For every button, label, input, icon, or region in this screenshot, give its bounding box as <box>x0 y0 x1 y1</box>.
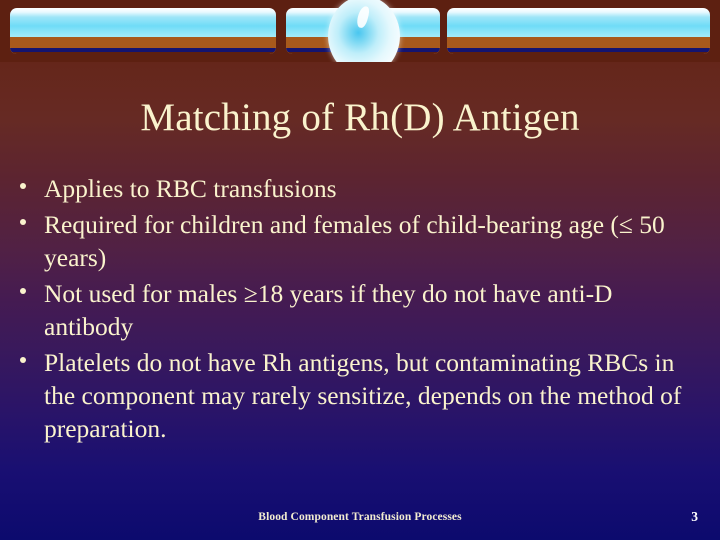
bullet-text: Applies to RBC transfusions <box>44 172 708 205</box>
bullet-marker-icon <box>14 277 44 294</box>
bullet-text: Required for children and females of chi… <box>44 208 708 274</box>
presentation-slide: Matching of Rh(D) Antigen Applies to RBC… <box>0 0 720 540</box>
bullet-item: Required for children and females of chi… <box>14 208 708 274</box>
landscape-panel-right <box>447 8 710 54</box>
slide-banner <box>0 0 720 62</box>
landscape-panel-left <box>10 8 276 54</box>
bullet-text: Platelets do not have Rh antigens, but c… <box>44 346 708 445</box>
bullet-item: Platelets do not have Rh antigens, but c… <box>14 346 708 445</box>
panel-underline <box>10 52 276 54</box>
bullet-marker-icon <box>14 208 44 225</box>
slide-page-number: 3 <box>691 509 698 525</box>
bullet-item: Not used for males ≥18 years if they do … <box>14 277 708 343</box>
slide-footer-text: Blood Component Transfusion Processes <box>0 511 720 523</box>
slide-title: Matching of Rh(D) Antigen <box>0 95 720 141</box>
slide-body: Applies to RBC transfusions Required for… <box>14 172 708 448</box>
panel-underline <box>447 52 710 54</box>
bullet-marker-icon <box>14 346 44 363</box>
bullet-text: Not used for males ≥18 years if they do … <box>44 277 708 343</box>
bullet-item: Applies to RBC transfusions <box>14 172 708 205</box>
bullet-marker-icon <box>14 172 44 189</box>
globe-highlight <box>355 5 370 29</box>
globe-icon <box>328 0 400 62</box>
